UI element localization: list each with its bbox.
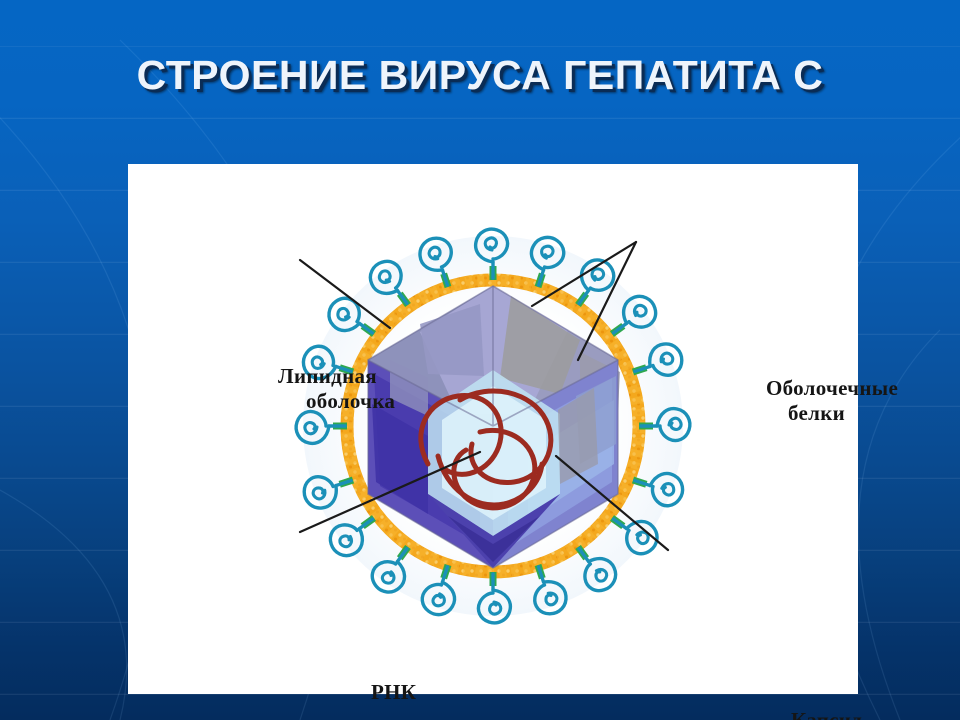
label-lipid-envelope: Липидная оболочка [278, 364, 395, 414]
label-envelope-proteins-line2: белки [788, 401, 898, 426]
label-rna: РНК [371, 680, 416, 705]
label-envelope-proteins-line1: Оболочечные [766, 376, 898, 400]
label-capsid: Капсид [791, 708, 862, 720]
label-lipid-envelope-line2: оболочка [306, 389, 395, 414]
virus-structure-diagram [128, 164, 858, 694]
slide: СТРОЕНИЕ ВИРУСА ГЕПАТИТА С [0, 0, 960, 720]
label-envelope-proteins: Оболочечные белки [766, 376, 898, 426]
label-lipid-envelope-line1: Липидная [278, 364, 377, 388]
figure-panel: Липидная оболочка Оболочечные белки РНК … [128, 164, 858, 694]
page-title: СТРОЕНИЕ ВИРУСА ГЕПАТИТА С [0, 52, 960, 99]
